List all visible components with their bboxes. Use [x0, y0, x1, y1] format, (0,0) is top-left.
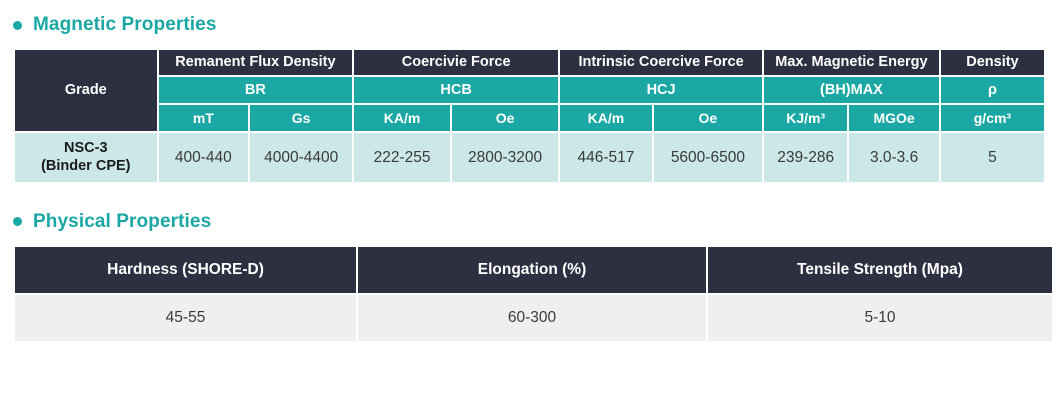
- grade-header-cell: Grade: [15, 50, 157, 131]
- physical-header-elongation: Elongation (%): [358, 247, 706, 293]
- physical-table-wrapper: Hardness (SHORE-D) Elongation (%) Tensil…: [0, 245, 1059, 343]
- properties-page: Magnetic Properties Grade Remanent Flux …: [0, 0, 1059, 406]
- unit-hcj-oe: Oe: [654, 105, 762, 131]
- value-hcj-kam: 446-517: [560, 133, 652, 182]
- magnetic-properties-table: Grade Remanent Flux Density Coercivie Fo…: [13, 48, 1046, 184]
- group-header-coercivie-force: Coercivie Force: [354, 50, 558, 75]
- magnetic-table-wrapper: Grade Remanent Flux Density Coercivie Fo…: [0, 48, 1059, 184]
- physical-value-elongation: 60-300: [358, 295, 706, 341]
- physical-value-hardness: 45-55: [15, 295, 356, 341]
- table-header-row-group: Grade Remanent Flux Density Coercivie Fo…: [15, 50, 1044, 75]
- magnetic-properties-heading: Magnetic Properties: [0, 14, 1059, 36]
- bullet-icon: [13, 217, 22, 226]
- group-header-max-magnetic-energy: Max. Magnetic Energy: [764, 50, 939, 75]
- symbol-hcb: HCB: [354, 77, 558, 103]
- heading-table-gap-2: [0, 233, 1059, 245]
- physical-value-tensile-strength: 5-10: [708, 295, 1052, 341]
- unit-bhmax-mgoe: MGOe: [849, 105, 939, 131]
- group-header-density: Density: [941, 50, 1044, 75]
- unit-density-gcm3: g/cm³: [941, 105, 1044, 131]
- bullet-icon: [13, 21, 22, 30]
- table-row: NSC-3 (Binder CPE) 400-440 4000-4400 222…: [15, 133, 1044, 182]
- heading-table-gap: [0, 36, 1059, 48]
- value-hcj-oe: 5600-6500: [654, 133, 762, 182]
- grade-name: NSC-3: [18, 140, 154, 157]
- magnetic-properties-title: Magnetic Properties: [33, 14, 217, 36]
- symbol-hcj: HCJ: [560, 77, 762, 103]
- physical-properties-title: Physical Properties: [33, 211, 211, 233]
- value-bhmax-kjm3: 239-286: [764, 133, 847, 182]
- group-header-remanent-flux-density: Remanent Flux Density: [159, 50, 353, 75]
- unit-br-gs: Gs: [250, 105, 352, 131]
- physical-header-row: Hardness (SHORE-D) Elongation (%) Tensil…: [15, 247, 1052, 293]
- value-bhmax-mgoe: 3.0-3.6: [849, 133, 939, 182]
- group-header-intrinsic-coercive-force: Intrinsic Coercive Force: [560, 50, 762, 75]
- symbol-rho: ρ: [941, 77, 1044, 103]
- physical-properties-table: Hardness (SHORE-D) Elongation (%) Tensil…: [13, 245, 1054, 343]
- unit-br-mt: mT: [159, 105, 249, 131]
- value-hcb-kam: 222-255: [354, 133, 450, 182]
- table-row: 45-55 60-300 5-10: [15, 295, 1052, 341]
- value-br-gs: 4000-4400: [250, 133, 352, 182]
- unit-hcj-kam: KA/m: [560, 105, 652, 131]
- physical-header-tensile-strength: Tensile Strength (Mpa): [708, 247, 1052, 293]
- grade-binder: (Binder CPE): [18, 158, 154, 175]
- table-unit-row: mT Gs KA/m Oe KA/m Oe KJ/m³ MGOe g/cm³: [15, 105, 1044, 131]
- top-spacer: [0, 0, 1059, 14]
- unit-hcb-oe: Oe: [452, 105, 558, 131]
- physical-properties-heading: Physical Properties: [0, 211, 1059, 233]
- symbol-br: BR: [159, 77, 353, 103]
- section-gap: [0, 184, 1059, 211]
- symbol-bhmax: (BH)MAX: [764, 77, 939, 103]
- value-hcb-oe: 2800-3200: [452, 133, 558, 182]
- value-br-mt: 400-440: [159, 133, 249, 182]
- unit-bhmax-kjm3: KJ/m³: [764, 105, 847, 131]
- physical-header-hardness: Hardness (SHORE-D): [15, 247, 356, 293]
- table-symbol-row: BR HCB HCJ (BH)MAX ρ: [15, 77, 1044, 103]
- unit-hcb-kam: KA/m: [354, 105, 450, 131]
- value-density: 5: [941, 133, 1044, 182]
- grade-cell: NSC-3 (Binder CPE): [15, 133, 157, 182]
